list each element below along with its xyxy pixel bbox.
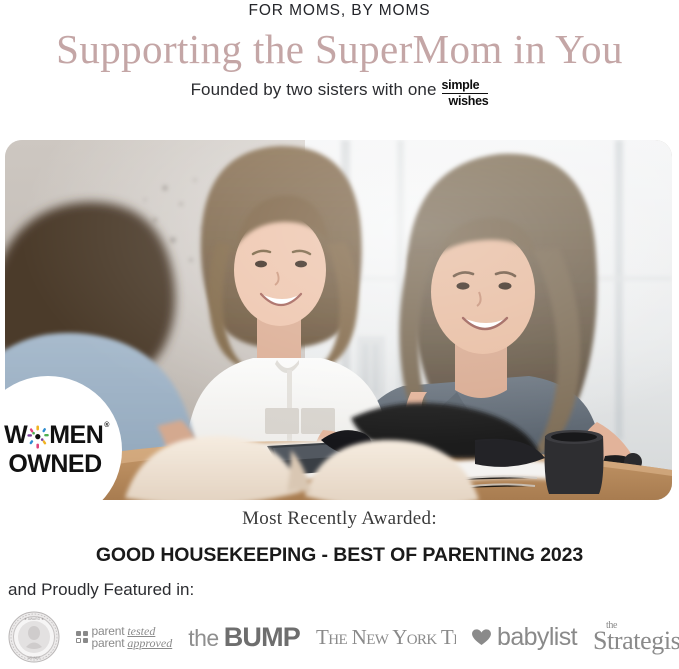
women-owned-line2: OWNED [8, 452, 101, 477]
press-logo-item: babylist [472, 623, 577, 652]
eyebrow-text: FOR MOMS, BY MOMS [0, 2, 679, 20]
featured-in-label: and Proudly Featured in: [8, 580, 194, 600]
award-kicker: Most Recently Awarded: [0, 508, 679, 530]
ptpa-row2-plain: parent [92, 637, 125, 649]
ptpa-text: parent tested parent approved [92, 625, 173, 649]
award-title: GOOD HOUSEKEEPING - BEST OF PARENTING 20… [0, 544, 679, 567]
babylist-word: babylist [497, 623, 577, 652]
award-seal-logo: ★ AWARD ★ WINNER [8, 611, 60, 663]
subline-text: Founded by two sisters with one [191, 80, 437, 100]
page-title: Supporting the SuperMom in You [0, 25, 679, 73]
press-logo-item: the BUMP [188, 622, 300, 653]
awards-section: Most Recently Awarded: GOOD HOUSEKEEPING… [0, 508, 679, 567]
the-bump-logo: the BUMP [188, 622, 300, 653]
subline-row: Founded by two sisters with one simple w… [0, 80, 679, 108]
women-owned-men: MEN® [49, 423, 108, 448]
ptpa-row2-script: approved [127, 637, 172, 649]
confetti-burst-icon [27, 425, 49, 449]
strategist-logo: the Strategist [593, 621, 679, 654]
press-logo-item: ★ AWARD ★ WINNER [8, 611, 60, 663]
svg-text:★ AWARD ★: ★ AWARD ★ [24, 617, 44, 621]
simple-wishes-line2: wishes [449, 95, 489, 108]
ptpa-logo: parent tested parent approved [76, 625, 172, 649]
the-bump-word: BUMP [224, 622, 300, 653]
women-owned-w: W [4, 423, 27, 448]
press-logo-item: parent tested parent approved [76, 625, 172, 649]
marketing-banner: FOR MOMS, BY MOMS Supporting the SuperMo… [0, 0, 679, 669]
heart-icon [472, 629, 491, 646]
the-bump-the: the [188, 625, 218, 652]
header: FOR MOMS, BY MOMS Supporting the SuperMo… [0, 0, 679, 108]
press-logo-item: The New York Times [316, 624, 456, 650]
ptpa-grid-icon [76, 631, 88, 643]
simple-wishes-line1: simple [442, 79, 489, 94]
strategist-the: the [606, 621, 617, 631]
women-owned-line1: W MEN® [4, 423, 108, 448]
registered-mark: ® [104, 422, 109, 429]
svg-text:The New York Times: The New York Times [316, 625, 456, 649]
svg-text:WINNER: WINNER [28, 656, 42, 660]
new-york-times-logo: The New York Times [316, 624, 456, 650]
babylist-logo: babylist [472, 623, 577, 652]
simple-wishes-logo: simple wishes [442, 79, 489, 107]
press-logo-row: ★ AWARD ★ WINNER parent tested parent ap… [0, 608, 679, 666]
press-logo-item: the Strategist [593, 621, 679, 654]
